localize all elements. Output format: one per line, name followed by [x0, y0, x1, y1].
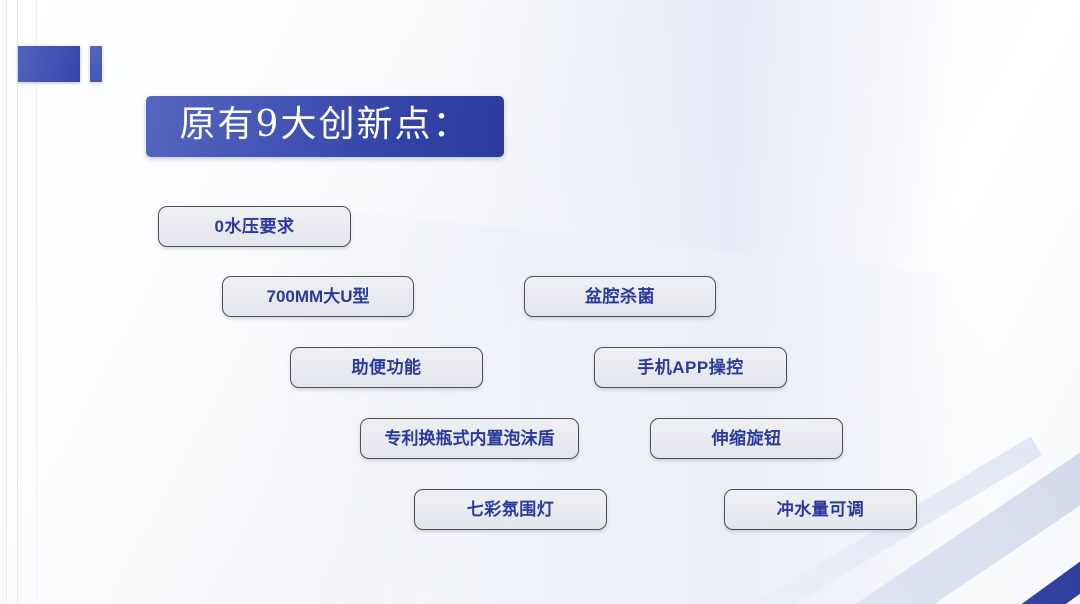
feature-pill[interactable]: 700MM大U型: [222, 276, 414, 317]
page-title: 原有9大创新点：: [180, 107, 471, 146]
feature-pill-label: 手机APP操控: [637, 359, 743, 376]
feature-pill-label: 七彩氛围灯: [467, 501, 555, 518]
feature-pill[interactable]: 伸缩旋钮: [650, 418, 843, 459]
feature-pill-label: 盆腔杀菌: [585, 288, 655, 305]
slide-canvas: 原有9大创新点： 0水压要求700MM大U型盆腔杀菌助便功能手机APP操控专利换…: [0, 0, 1080, 604]
feature-pill[interactable]: 冲水量可调: [724, 489, 917, 530]
feature-pill[interactable]: 0水压要求: [158, 206, 351, 247]
corner-ribbon-blue-icon: [753, 546, 1080, 604]
feature-pill-label: 伸缩旋钮: [712, 430, 782, 447]
feature-pill-label: 助便功能: [352, 359, 422, 376]
feature-pill-label: 专利换瓶式内置泡沫盾: [385, 430, 555, 447]
header-decoration-bar-icon: [90, 46, 102, 82]
feature-pill[interactable]: 盆腔杀菌: [524, 276, 716, 317]
feature-pill-label: 0水压要求: [215, 218, 295, 235]
feature-pill[interactable]: 专利换瓶式内置泡沫盾: [360, 418, 579, 459]
corner-ribbon-blue-secondary-icon: [804, 587, 1080, 604]
feature-pill[interactable]: 手机APP操控: [594, 347, 787, 388]
background-pinstripes: [0, 0, 60, 604]
feature-pill[interactable]: 助便功能: [290, 347, 483, 388]
feature-pill-label: 700MM大U型: [267, 288, 370, 305]
header-decoration-block-icon: [18, 46, 80, 82]
feature-pill-label: 冲水量可调: [777, 501, 865, 518]
feature-pill[interactable]: 七彩氛围灯: [414, 489, 607, 530]
slide-title-plate: 原有9大创新点：: [146, 96, 504, 157]
